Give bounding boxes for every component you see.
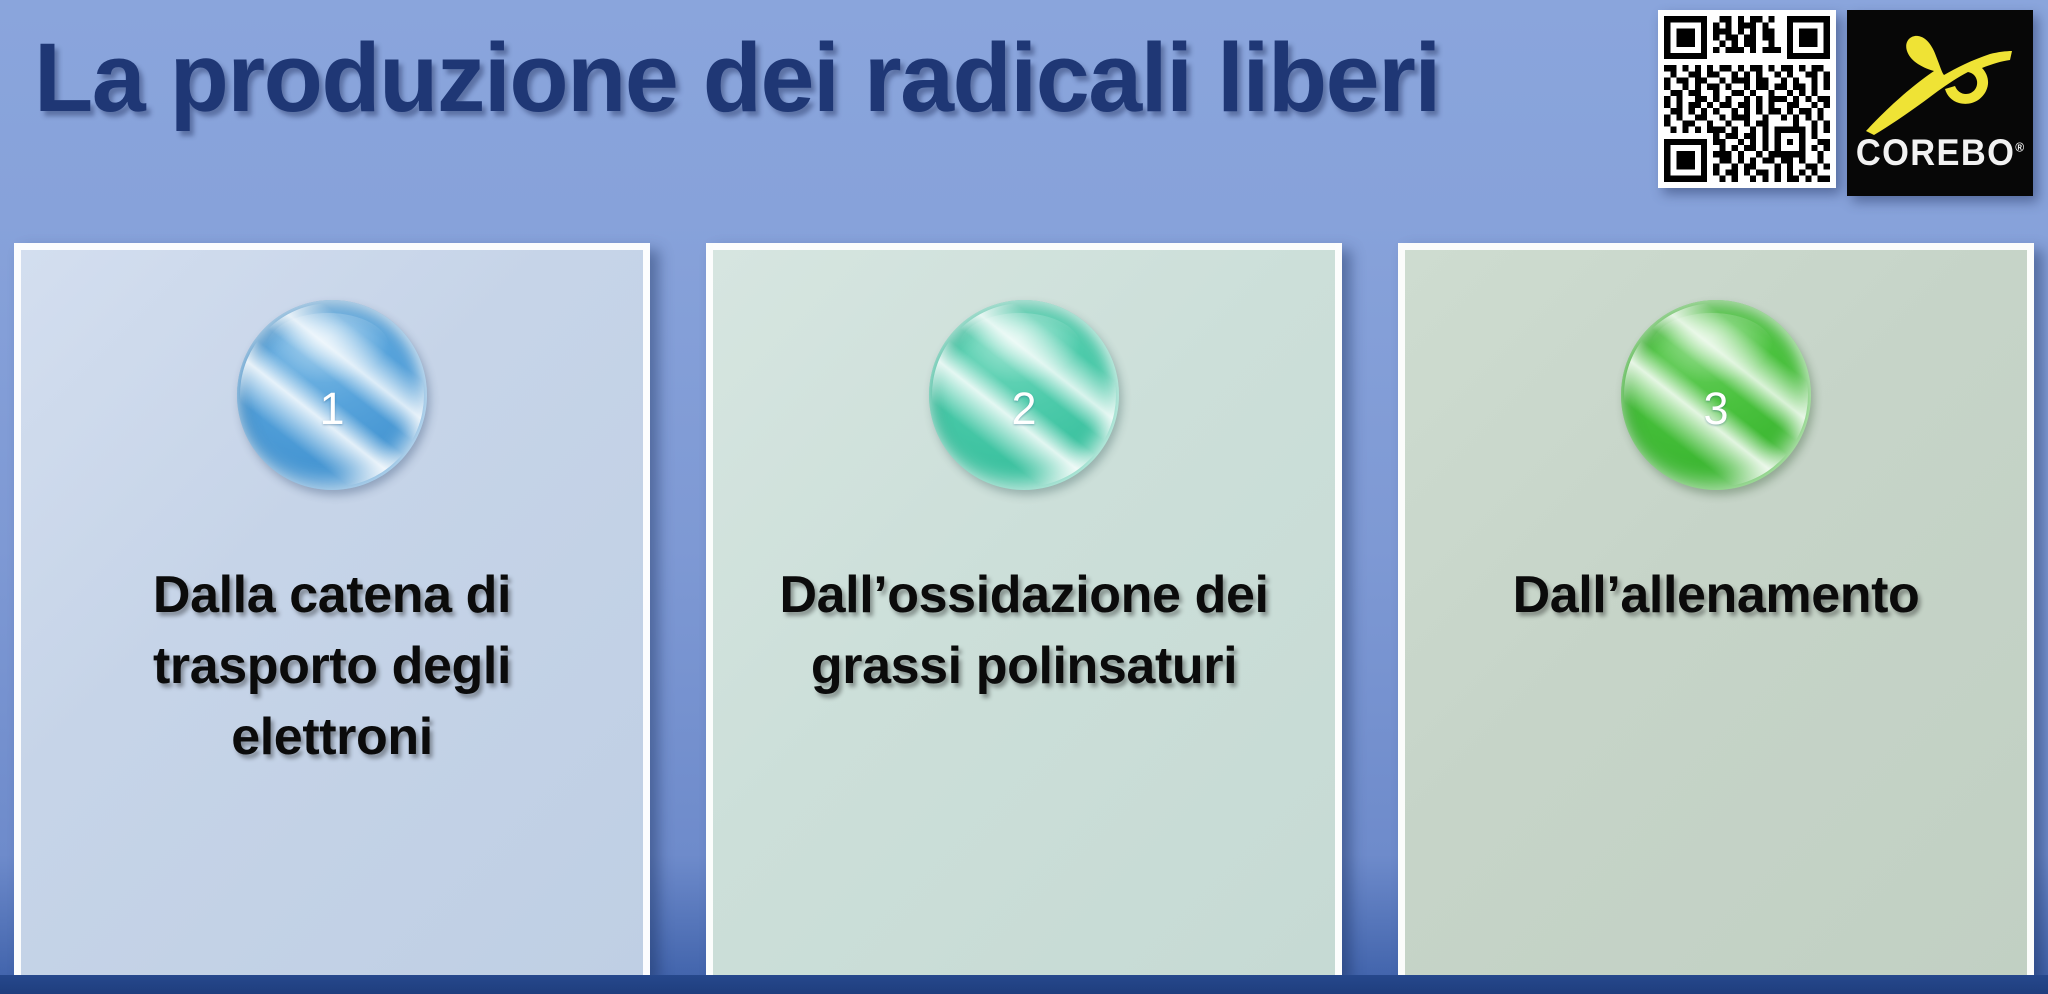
card-3[interactable]: 3 Dall’allenamento	[1398, 243, 2034, 978]
card-2[interactable]: 2 Dall’ossidazione dei grassi polinsatur…	[706, 243, 1342, 978]
corebo-logo-icon[interactable]: COREBO®	[1847, 10, 2033, 196]
step-badge-3: 3	[1621, 300, 1811, 490]
card-1-label: Dalla catena di trasporto degli elettron…	[21, 560, 643, 773]
card-2-label: Dall’ossidazione dei grassi polinsaturi	[713, 560, 1335, 702]
step-badge-1: 1	[237, 300, 427, 490]
step-number-2: 2	[1011, 386, 1036, 431]
branding-group: COREBO®	[1658, 10, 2033, 196]
corebo-wordmark: COREBO®	[1854, 132, 2027, 174]
step-number-3: 3	[1703, 386, 1728, 431]
registered-mark: ®	[2015, 140, 2024, 155]
step-badge-2: 2	[929, 300, 1119, 490]
step-number-1: 1	[319, 386, 344, 431]
slide-header: La produzione dei radicali liberi	[0, 0, 2048, 243]
qr-code-icon[interactable]	[1658, 10, 1836, 188]
corebo-runner-mark-icon	[1860, 27, 2020, 137]
bottom-strip	[0, 975, 2048, 994]
card-3-label: Dall’allenamento	[1485, 560, 1948, 631]
page-title: La produzione dei radicali liberi	[34, 22, 1594, 134]
card-1[interactable]: 1 Dalla catena di trasporto degli elettr…	[14, 243, 650, 978]
slide-canvas: La produzione dei radicali liberi	[0, 0, 2048, 994]
corebo-wordmark-text: COREBO	[1856, 132, 2015, 173]
cards-row: 1 Dalla catena di trasporto degli elettr…	[0, 243, 2048, 978]
